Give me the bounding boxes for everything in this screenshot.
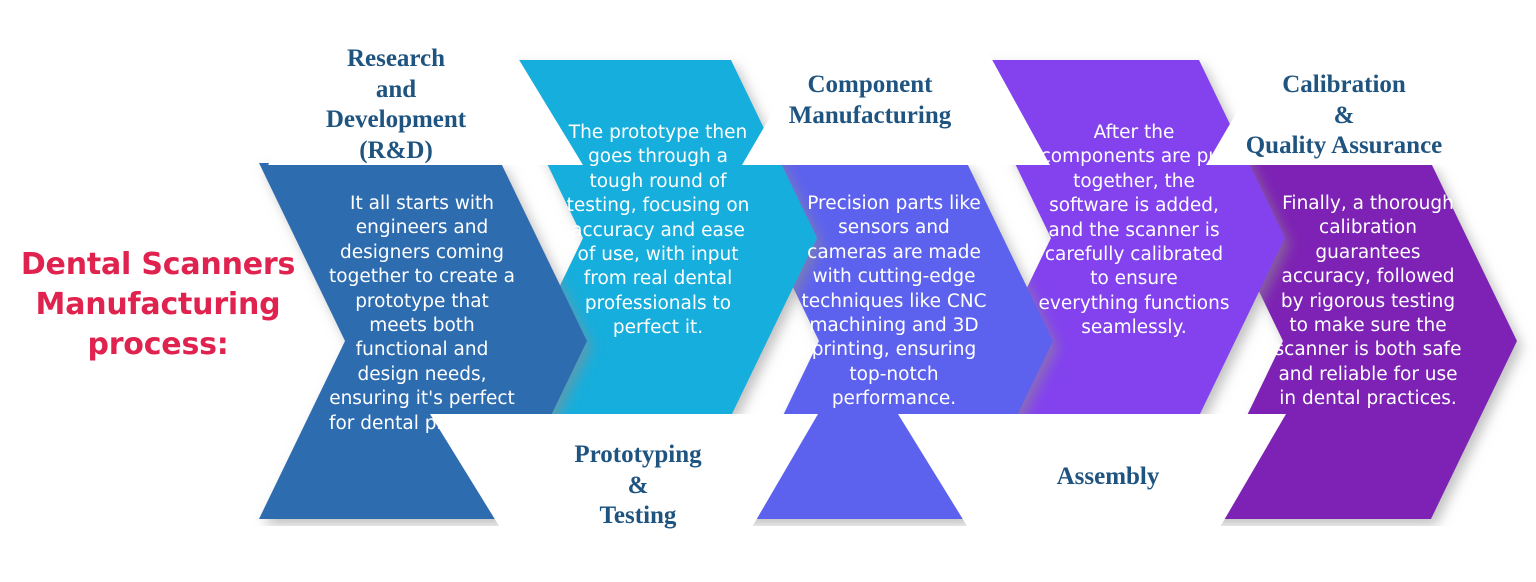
top-gutter [0,0,1536,44]
infographic-canvas: Dental Scanners Manufacturing process: R… [0,0,1536,582]
bottom-gutter [0,526,1536,582]
page-title: Dental Scanners Manufacturing process: [8,245,308,365]
stage-title-band-5 [1204,45,1514,165]
